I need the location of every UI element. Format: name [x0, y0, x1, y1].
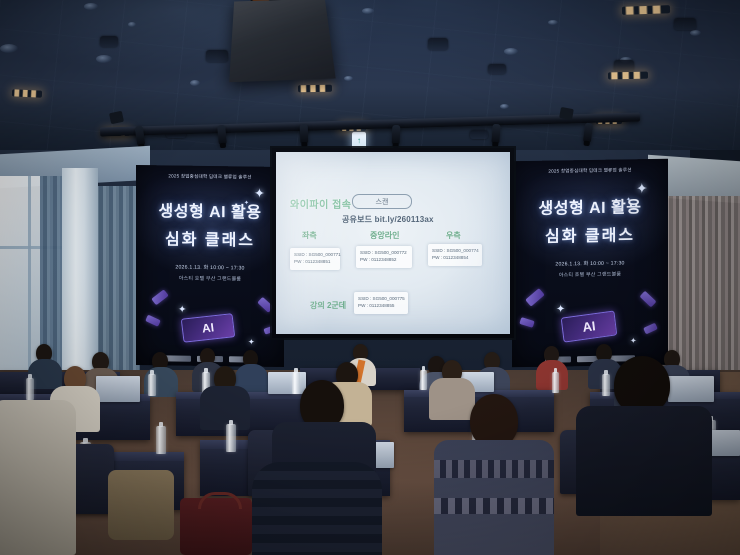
downlight — [344, 76, 353, 81]
downlight — [128, 22, 136, 27]
laptop[interactable] — [96, 376, 140, 402]
water-bottle — [420, 370, 427, 390]
screen-glare — [276, 152, 510, 334]
ai-ticket-badge: AI — [561, 310, 618, 342]
ceiling-projector — [229, 0, 336, 82]
sparkle-icon: ✦ — [630, 337, 637, 345]
downlight — [690, 30, 701, 36]
banner-title-line1: 생성형 AI 활용 — [512, 193, 668, 219]
ceiling-light-strip — [12, 89, 42, 98]
banner-header-text: 2025 창업중심대학 딥테크 밸류업 솔루션 — [136, 173, 284, 181]
coat-on-chair — [108, 470, 174, 540]
ai-ticket-badge: AI — [181, 313, 236, 342]
laptop[interactable] — [668, 376, 714, 402]
confetti-shape — [643, 323, 658, 335]
stage-spotlight — [300, 124, 309, 144]
torso — [0, 400, 76, 555]
banner-header-text: 2025 창업중심대학 딥테크 밸류업 솔루션 — [512, 167, 668, 175]
banner-title-line1: 생성형 AI 활용 — [136, 197, 284, 223]
confetti-shape — [145, 315, 161, 327]
window-mullion — [28, 176, 31, 376]
banner-venue: 아스티 호텔 부산 그랜드볼룸 — [136, 274, 284, 283]
banner-title-line2: 심화 클래스 — [512, 221, 668, 247]
stage-spotlight — [392, 125, 401, 145]
water-bottle — [292, 372, 300, 394]
ceiling-light-strip — [298, 85, 332, 93]
downlight — [504, 48, 518, 55]
downlight — [84, 3, 98, 10]
ceiling-vent — [614, 60, 634, 71]
water-bottle — [602, 374, 610, 396]
ceiling-light-strip — [622, 5, 670, 15]
wall-pillar — [62, 168, 98, 383]
sparkle-icon: ✦ — [248, 339, 255, 347]
downlight — [500, 104, 509, 109]
ceiling-light-strip — [608, 72, 648, 80]
banner-title-line2: 심화 클래스 — [136, 225, 284, 251]
water-bottle — [552, 372, 559, 393]
banner-right: 2025 창업중심대학 딥테크 밸류업 솔루션 ✦ ✦ 생성형 AI 활용 심화… — [512, 159, 668, 367]
confetti-shape — [639, 291, 656, 308]
stage-spotlight — [491, 124, 500, 145]
downlight — [362, 8, 374, 14]
torso — [429, 378, 475, 420]
confetti-shape — [151, 289, 169, 305]
ceiling-vent — [428, 38, 448, 50]
downlight — [190, 80, 200, 86]
ceiling-vent — [488, 64, 506, 74]
ceiling-vent — [206, 50, 228, 62]
downlight — [548, 20, 558, 25]
sparkle-icon: ✦ — [556, 304, 565, 315]
water-bottle — [148, 374, 156, 396]
torso — [200, 386, 250, 430]
ceiling-vent — [100, 36, 118, 47]
stage-spotlight — [217, 125, 227, 146]
sweater-pattern — [434, 460, 554, 478]
banner-date: 2026.1.13. 화 10:00 ~ 17:30 — [136, 263, 284, 272]
confetti-shape — [525, 288, 545, 307]
exit-sign: ↑ — [352, 132, 366, 149]
banner-venue: 아스티 호텔 부산 그랜드볼룸 — [512, 270, 668, 279]
truss-mount — [559, 107, 574, 120]
ceiling-vent — [470, 130, 488, 139]
puffer-jacket — [252, 462, 382, 555]
ceiling-vent — [674, 18, 696, 30]
water-bottle — [226, 424, 236, 452]
conference-hall-photo: ↑ 2025 창업중심대학 딥테크 밸류업 솔루션 ✦ ✦ 생성형 AI 활용 … — [0, 0, 740, 555]
exit-arrow-icon: ↑ — [357, 137, 361, 145]
downlight — [96, 55, 112, 63]
logo-1 — [165, 355, 191, 361]
banner-date: 2026.1.13. 화 10:00 ~ 17:30 — [512, 259, 668, 268]
ceiling-panel-grid — [0, 0, 740, 168]
handbag-handle — [198, 492, 242, 509]
water-bottle — [26, 378, 34, 400]
downlight — [0, 44, 18, 53]
water-bottle — [156, 426, 166, 454]
sparkle-icon: ✦ — [178, 306, 186, 316]
banner-left: 2025 창업중심대학 딥테크 밸류업 솔루션 ✦ ✦ 생성형 AI 활용 심화… — [136, 165, 284, 367]
torso — [576, 406, 712, 516]
projection-screen: 와이파이 접속 스캔 공유보드 bit.ly/260113ax 좌측 중앙라인 … — [276, 152, 510, 334]
sweater-pattern — [434, 498, 554, 514]
confetti-shape — [519, 317, 534, 328]
laptop[interactable] — [268, 372, 306, 394]
